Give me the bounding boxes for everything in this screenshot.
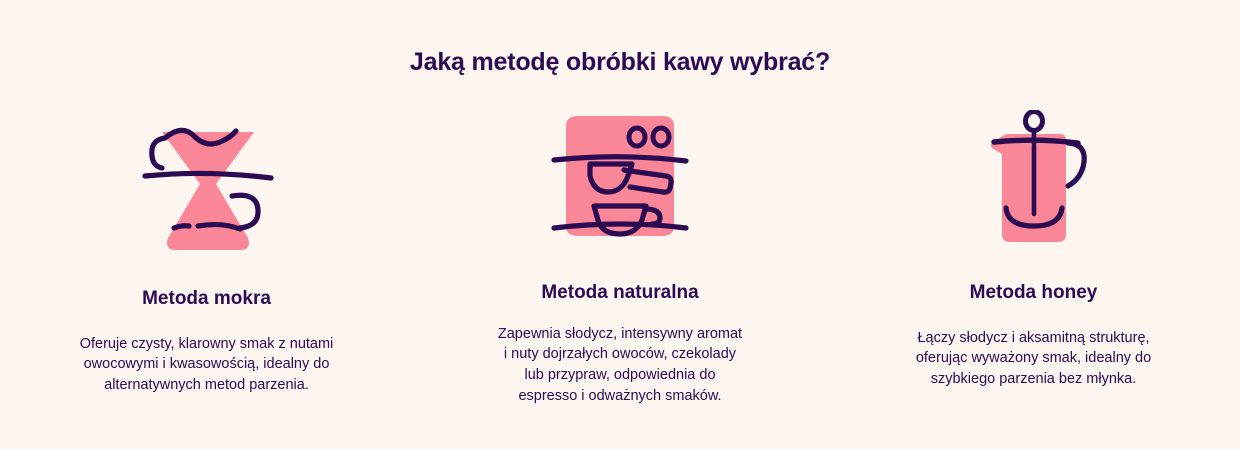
infographic-root: Jaką metodę obróbki kawy wybrać? xyxy=(0,0,1240,450)
french-press-icon-wrap xyxy=(964,110,1104,254)
french-press-icon xyxy=(964,110,1104,254)
method-title-wet: Metoda mokra xyxy=(142,288,271,311)
espresso-machine-icon-wrap xyxy=(550,110,690,246)
page-title: Jaką metodę obróbki kawy wybrać? xyxy=(0,47,1240,77)
pour-over-carafe-icon xyxy=(132,110,282,256)
method-title-natural: Metoda naturalna xyxy=(541,282,698,305)
methods-row: Metoda mokra Oferuje czysty, klarowny sm… xyxy=(0,110,1240,430)
pour-over-carafe-icon-wrap xyxy=(132,110,282,256)
method-card-wet: Metoda mokra Oferuje czysty, klarowny sm… xyxy=(0,110,413,396)
method-title-honey: Metoda honey xyxy=(970,282,1098,305)
method-card-honey: Metoda honey Łączy słodycz i aksamitną s… xyxy=(827,110,1240,390)
espresso-machine-icon xyxy=(550,110,690,246)
method-description-wet: Oferuje czysty, klarowny smak z nutami o… xyxy=(80,334,334,396)
method-card-natural: Metoda naturalna Zapewnia słodycz, inten… xyxy=(414,110,827,406)
method-description-natural: Zapewnia słodycz, intensywny aromat i nu… xyxy=(498,324,742,406)
method-description-honey: Łączy słodycz i aksamitną strukturę, ofe… xyxy=(916,328,1151,390)
